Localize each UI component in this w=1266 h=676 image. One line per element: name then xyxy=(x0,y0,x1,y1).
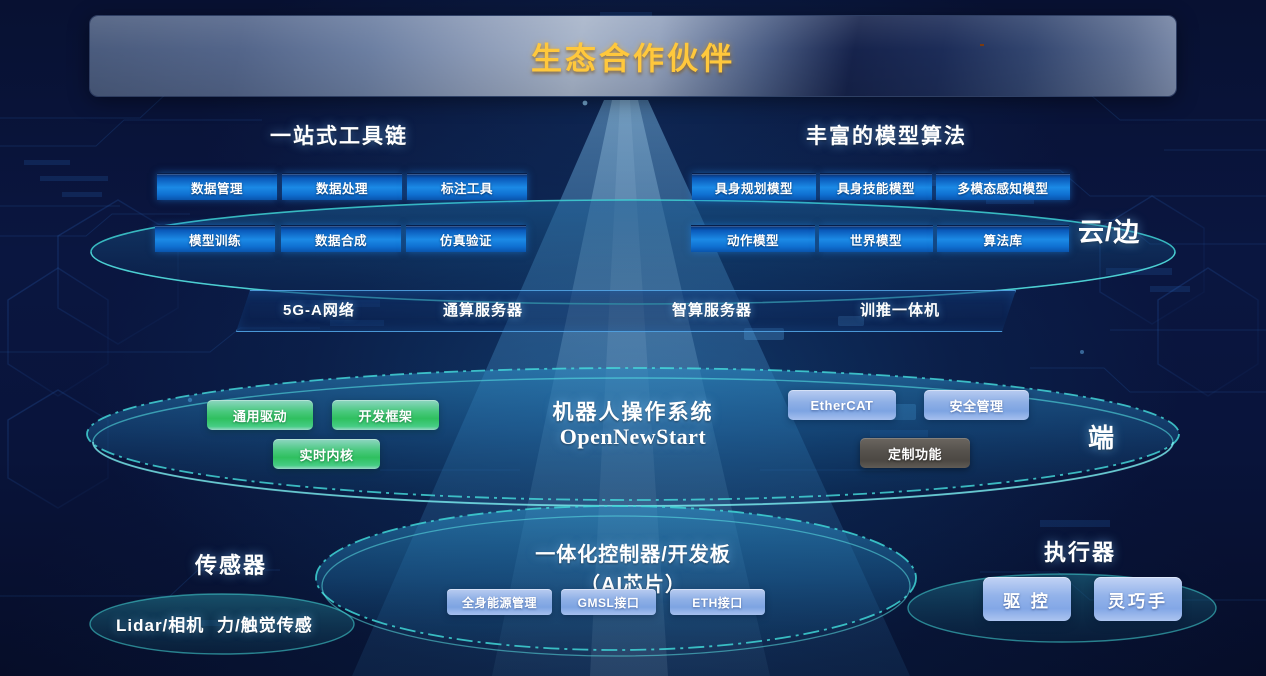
chip-model-4[interactable]: 世界模型 xyxy=(819,225,933,252)
infographic-canvas: 生态合作伙伴 一站式工具链 丰富的模型算法 传感器 执行器 云/边 端 数据管理… xyxy=(0,0,1266,676)
heading-actuators: 执行器 xyxy=(1044,535,1116,567)
chip-toolchain-3[interactable]: 模型训练 xyxy=(155,225,275,252)
actuator-item-1[interactable]: 灵巧手 xyxy=(1094,577,1182,621)
light-beam-icon xyxy=(0,0,1266,676)
chip-os-custom[interactable]: 定制功能 xyxy=(860,438,970,468)
heading-models: 丰富的模型算法 xyxy=(806,120,967,150)
infra-item-2[interactable]: 智算服务器 xyxy=(672,299,752,320)
os-title-block: 机器人操作系统 OpenNewStart xyxy=(0,396,1266,450)
heading-toolchain: 一站式工具链 xyxy=(270,120,408,150)
chip-controller-0[interactable]: 全身能源管理 xyxy=(447,589,552,615)
ecosystem-partner-banner: 生态合作伙伴 xyxy=(90,16,1176,96)
infra-item-3[interactable]: 训推一体机 xyxy=(860,299,940,320)
chip-toolchain-2[interactable]: 标注工具 xyxy=(407,173,527,200)
circuit-pattern-icon xyxy=(0,0,1266,676)
actuator-item-0[interactable]: 驱 控 xyxy=(983,577,1071,621)
os-title-cn: 机器人操作系统 xyxy=(0,396,1266,426)
chip-toolchain-0[interactable]: 数据管理 xyxy=(157,173,277,200)
background-texture xyxy=(0,0,1266,676)
chip-os-green-0[interactable]: 通用驱动 xyxy=(207,400,313,430)
chip-controller-1[interactable]: GMSL接口 xyxy=(561,589,656,615)
banner-title: 生态合作伙伴 xyxy=(90,34,1176,79)
os-title-en: OpenNewStart xyxy=(0,424,1266,450)
controller-disc xyxy=(312,500,920,676)
chip-model-3[interactable]: 动作模型 xyxy=(691,225,815,252)
chip-toolchain-4[interactable]: 数据合成 xyxy=(281,225,401,252)
chip-toolchain-5[interactable]: 仿真验证 xyxy=(406,225,526,252)
chip-toolchain-1[interactable]: 数据处理 xyxy=(282,173,402,200)
chip-os-safety[interactable]: 安全管理 xyxy=(924,390,1029,420)
banner-marker-dot xyxy=(980,44,984,46)
sensor-item-1[interactable]: 力/触觉传感 xyxy=(217,611,313,636)
light-cone xyxy=(0,0,1266,676)
chip-model-5[interactable]: 算法库 xyxy=(937,225,1069,252)
disc-ellipse-icon xyxy=(312,500,920,676)
infra-item-0[interactable]: 5G-A网络 xyxy=(283,299,355,320)
chip-model-1[interactable]: 具身技能模型 xyxy=(820,173,932,200)
os-layer-disc xyxy=(84,362,1182,512)
heading-sensors: 传感器 xyxy=(195,548,267,580)
chip-os-green-1[interactable]: 开发框架 xyxy=(332,400,439,430)
layer-label-cloud-edge: 云/边 xyxy=(1078,212,1140,249)
chip-os-green-2[interactable]: 实时内核 xyxy=(273,439,380,469)
sensor-item-0[interactable]: Lidar/相机 xyxy=(116,611,204,636)
chip-model-2[interactable]: 多模态感知模型 xyxy=(936,173,1070,200)
chip-model-0[interactable]: 具身规划模型 xyxy=(692,173,816,200)
disc-ellipse-icon xyxy=(84,362,1182,512)
layer-label-edge-device: 端 xyxy=(1088,418,1115,455)
infra-item-1[interactable]: 通算服务器 xyxy=(443,299,523,320)
chip-controller-2[interactable]: ETH接口 xyxy=(670,589,765,615)
chip-os-ethercat[interactable]: EtherCAT xyxy=(788,390,896,420)
